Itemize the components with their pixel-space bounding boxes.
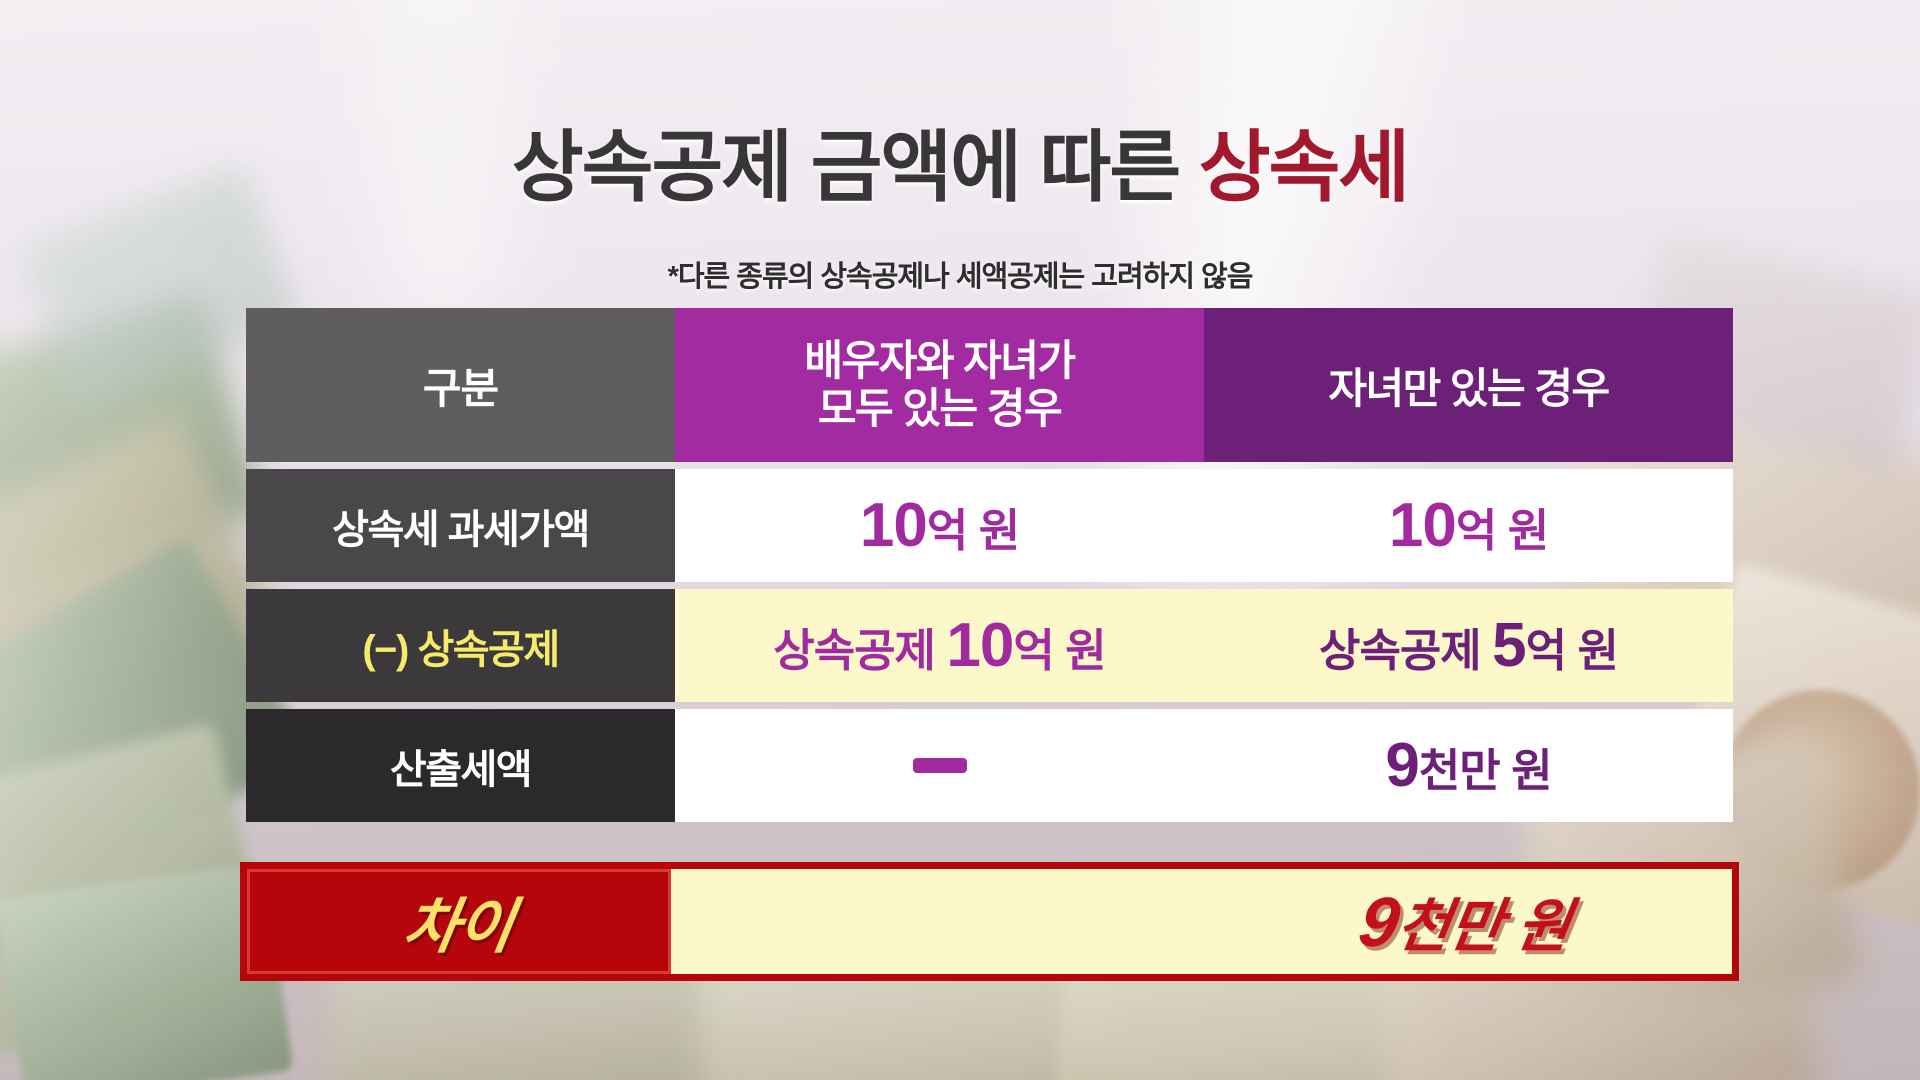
cell-amount: 10 — [1389, 491, 1456, 560]
table-row: 산출세액 9천만 원 — [246, 709, 1733, 822]
cell-deduction-children: 상속공제 5억 원 — [1204, 589, 1733, 702]
cell-unit: 억 원 — [1013, 625, 1105, 676]
cell-unit: 억 원 — [927, 505, 1019, 556]
table-row: (−) 상속공제 상속공제 10억 원 상속공제 5억 원 — [246, 589, 1733, 702]
cell-taxable-amount-children: 10억 원 — [1204, 469, 1733, 582]
table-header-category: 구분 — [246, 308, 675, 462]
row-label-difference-text: 차이 — [398, 878, 520, 965]
cell-prefix: 상속공제 — [773, 625, 946, 676]
cell-calculated-tax-children: 9천만 원 — [1204, 709, 1733, 822]
row-label-taxable-amount: 상속세 과세가액 — [246, 469, 675, 582]
table-header-row: 구분 배우자와 자녀가 모두 있는 경우 자녀만 있는 경우 — [246, 308, 1733, 462]
table-row: 상속세 과세가액 10억 원 10억 원 — [246, 469, 1733, 582]
cell-difference-spouse — [671, 869, 1198, 974]
page-title-main: 상속공제 금액에 따른 — [512, 123, 1199, 211]
cell-amount: 10 — [860, 491, 927, 560]
cell-calculated-tax-spouse — [675, 709, 1204, 822]
row-label-inheritance-deduction: (−) 상속공제 — [246, 589, 675, 702]
cell-amount: 9 — [1385, 731, 1418, 800]
cell-difference-children: 9천만 원 — [1198, 869, 1732, 974]
page-title-accent: 상속세 — [1199, 123, 1408, 211]
cell-amount: 10 — [946, 611, 1013, 680]
comparison-table: 구분 배우자와 자녀가 모두 있는 경우 자녀만 있는 경우 상속세 과세가액 … — [246, 308, 1733, 822]
row-label-difference: 차이 — [247, 869, 671, 974]
cell-unit: 억 원 — [1456, 505, 1548, 556]
page-title: 상속공제 금액에 따른 상속세 — [0, 128, 1920, 206]
table-header-spouse-line2: 모두 있는 경우 — [804, 385, 1074, 433]
cell-unit: 천만 원 — [1392, 894, 1574, 959]
cell-prefix: 상속공제 — [1319, 625, 1492, 676]
cell-amount: 5 — [1492, 611, 1525, 680]
difference-row-highlight: 차이 9천만 원 — [240, 862, 1739, 981]
table-header-spouse-line1: 배우자와 자녀가 — [804, 337, 1074, 385]
cell-unit: 억 원 — [1526, 625, 1618, 676]
cell-deduction-spouse: 상속공제 10억 원 — [675, 589, 1204, 702]
page-subtitle: *다른 종류의 상속공제나 세액공제는 고려하지 않음 — [0, 253, 1920, 295]
dash-icon — [913, 758, 967, 773]
table-header-spouse-and-children: 배우자와 자녀가 모두 있는 경우 — [675, 308, 1204, 462]
cell-unit: 천만 원 — [1419, 745, 1552, 796]
row-label-calculated-tax: 산출세액 — [246, 709, 675, 822]
cell-taxable-amount-spouse: 10억 원 — [675, 469, 1204, 582]
table-header-children-only: 자녀만 있는 경우 — [1204, 308, 1733, 462]
